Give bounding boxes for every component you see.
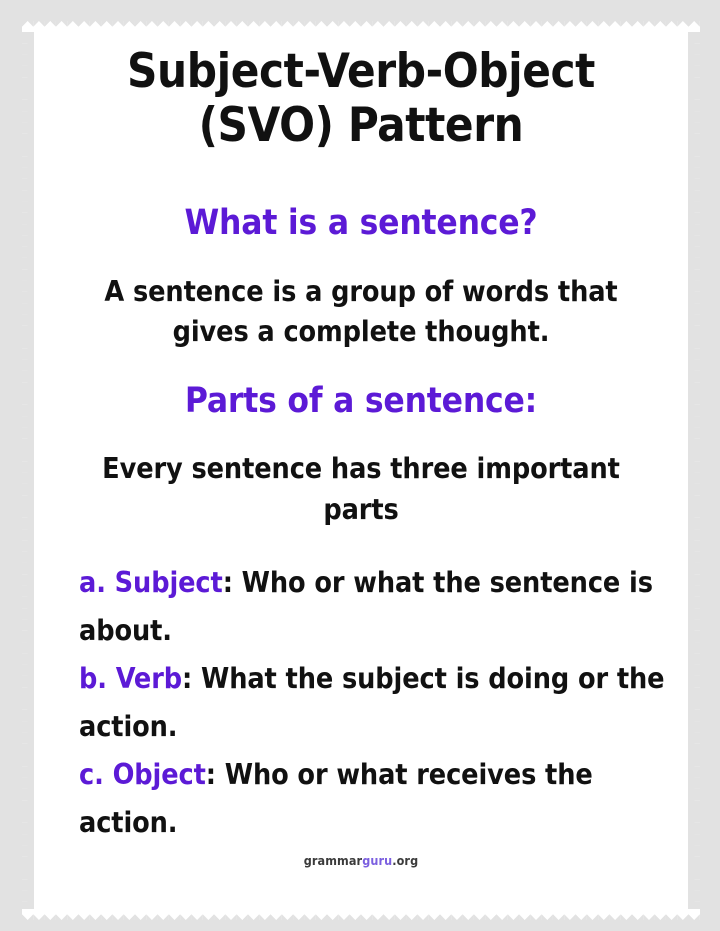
poster-content: Subject-Verb-Object (SVO) Pattern What i… — [57, 32, 665, 909]
zigzag-edge-bottom-icon — [22, 908, 700, 920]
definition-colon: : — [223, 566, 233, 599]
definition-colon: : — [206, 758, 216, 791]
page-title: Subject-Verb-Object (SVO) Pattern — [57, 45, 665, 153]
definition-term: Verb — [116, 662, 182, 695]
watermark-part-grammar: grammar — [304, 853, 362, 868]
page-title-line-2: (SVO) Pattern — [57, 99, 665, 153]
section-heading-parts-of-a-sentence: Parts of a sentence: — [57, 382, 665, 421]
section-body-what-is-a-sentence: A sentence is a group of words that give… — [57, 272, 665, 354]
watermark: grammarguru.org — [22, 853, 700, 868]
list-item: c. Object: Who or what receives the acti… — [79, 751, 665, 847]
page-title-line-1: Subject-Verb-Object — [57, 45, 665, 99]
section-body-line: gives a complete thought. — [57, 312, 665, 353]
definition-marker: b. — [79, 662, 107, 695]
section-body-line: parts — [57, 490, 665, 531]
list-item: b. Verb: What the subject is doing or th… — [79, 655, 665, 751]
section-body-line: A sentence is a group of words that — [57, 272, 665, 313]
poster-sheet: Subject-Verb-Object (SVO) Pattern What i… — [22, 21, 700, 920]
definition-term: Object — [113, 758, 206, 791]
watermark-part-tld: .org — [392, 853, 418, 868]
definition-marker: c. — [79, 758, 104, 791]
list-item: a. Subject: Who or what the sentence is … — [79, 559, 665, 655]
definition-list: a. Subject: Who or what the sentence is … — [57, 559, 665, 846]
definition-term: Subject — [115, 566, 223, 599]
section-body-parts-of-a-sentence: Every sentence has three important parts — [57, 449, 665, 531]
section-heading-what-is-a-sentence: What is a sentence? — [57, 204, 665, 243]
watermark-part-guru: guru — [362, 853, 392, 868]
section-body-line: Every sentence has three important — [57, 449, 665, 490]
definition-colon: : — [182, 662, 192, 695]
definition-marker: a. — [79, 566, 106, 599]
